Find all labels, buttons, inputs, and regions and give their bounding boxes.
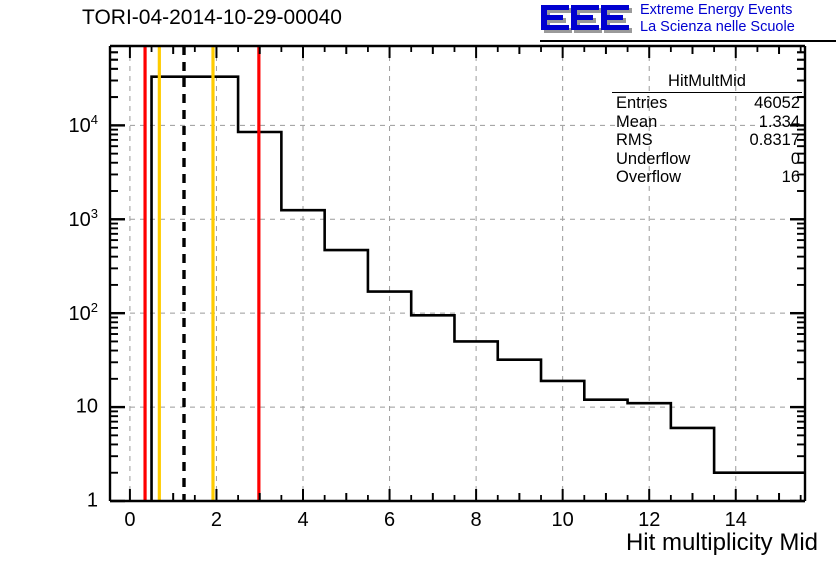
stats-row-underflow: Underflow 0 bbox=[612, 150, 802, 169]
stats-key: Overflow bbox=[616, 168, 681, 187]
y-tick-label-10: 10 bbox=[20, 396, 98, 419]
eee-line-2: La Scienza nelle Scuole bbox=[640, 19, 795, 36]
y-tick-label-1000: 103 bbox=[20, 206, 98, 232]
stats-row-entries: Entries 46052 bbox=[612, 94, 802, 113]
stats-row-overflow: Overflow 16 bbox=[612, 168, 802, 187]
x-tick-label-2: 2 bbox=[211, 509, 222, 532]
stats-value: 0.8317 bbox=[750, 131, 800, 150]
stats-value: 0 bbox=[791, 150, 800, 169]
stats-row-mean: Mean 1.334 bbox=[612, 113, 802, 132]
stats-box: HitMultMid Entries 46052 Mean 1.334 RMS … bbox=[612, 72, 802, 187]
eee-wordmark: Extreme Energy Events La Scienza nelle S… bbox=[640, 2, 795, 36]
x-tick-label-4: 4 bbox=[297, 509, 308, 532]
page-title: TORI-04-2014-10-29-00040 bbox=[82, 6, 342, 30]
stats-value: 16 bbox=[782, 168, 800, 187]
stats-key: RMS bbox=[616, 131, 653, 150]
stats-title: HitMultMid bbox=[612, 72, 802, 93]
y-tick-label-100: 102 bbox=[20, 300, 98, 326]
stats-key: Underflow bbox=[616, 150, 690, 169]
x-axis-title: Hit multiplicity Mid bbox=[626, 529, 818, 557]
stats-row-rms: RMS 0.8317 bbox=[612, 131, 802, 150]
eee-mark-icon bbox=[540, 2, 636, 36]
eee-logo: Extreme Energy Events La Scienza nelle S… bbox=[540, 2, 832, 40]
eee-line-1: Extreme Energy Events bbox=[640, 2, 795, 19]
stats-key: Entries bbox=[616, 94, 667, 113]
x-tick-label-0: 0 bbox=[124, 509, 135, 532]
stats-key: Mean bbox=[616, 113, 657, 132]
y-tick-label-1: 1 bbox=[20, 490, 98, 513]
stats-value: 46052 bbox=[754, 94, 800, 113]
x-tick-label-6: 6 bbox=[384, 509, 395, 532]
x-tick-label-8: 8 bbox=[471, 509, 482, 532]
x-tick-label-10: 10 bbox=[552, 509, 574, 532]
y-tick-label-10000: 104 bbox=[20, 113, 98, 139]
stats-value: 1.334 bbox=[759, 113, 800, 132]
